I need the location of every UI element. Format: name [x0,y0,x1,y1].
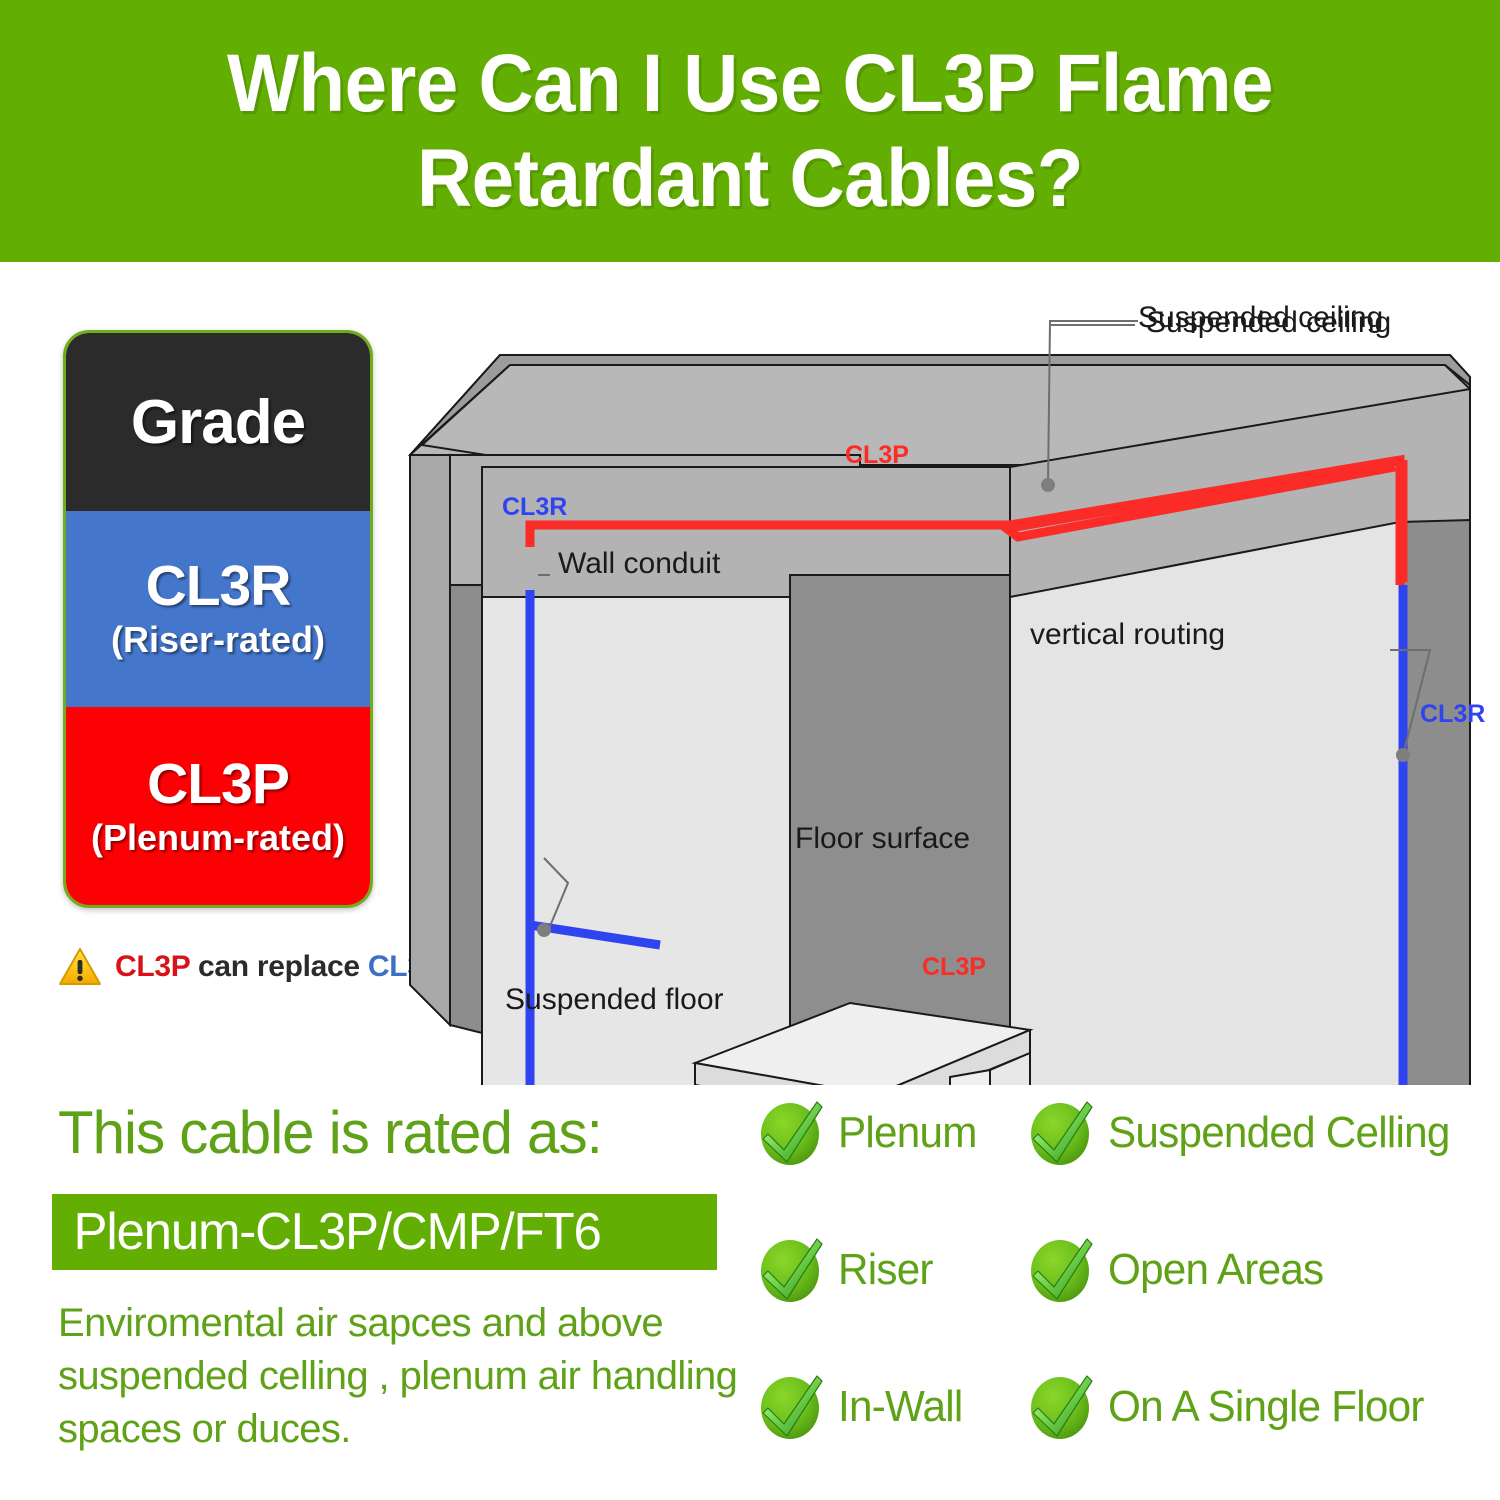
grade-legend-card: Grade CL3R (Riser-rated) CL3P (Plenum-ra… [63,330,373,908]
grade-legend-row-cl3p: CL3P (Plenum-rated) [66,707,370,907]
callout-label-wall-conduit: Wall conduit [558,547,720,581]
callout-label-vertical-routing: vertical routing [1030,618,1225,652]
page-header-banner: Where Can I Use CL3P Flame Retardant Cab… [0,0,1500,262]
checklist-label-on-a-single-floor: On A Single Floor [1108,1382,1424,1432]
checklist-label-suspended-celling: Suspended Celling [1108,1108,1450,1158]
rated-as-heading: This cable is rated as: [58,1098,602,1167]
checklist-row-3: In-Wall On A Single Floor [760,1372,1437,1442]
green-check-icon [760,1235,824,1305]
callout-label-floor-surface: Floor surface [795,822,970,856]
callout-label-suspended-ceiling: Suspended ceiling [1138,301,1383,335]
checklist-item-open-areas: Open Areas [1030,1235,1332,1305]
rated-chip-label: Plenum-CL3P/CMP/FT6 [52,1202,601,1262]
green-check-icon [1030,1098,1094,1168]
green-check-icon [760,1372,824,1442]
checklist-item-suspended-celling: Suspended Celling [1030,1098,1464,1168]
grade-cl3r-code: CL3R [146,558,291,615]
checklist-item-plenum: Plenum [760,1098,1030,1168]
room-diagram-svg: .ln{stroke:#1A1A1A;stroke-width:2;fill:n… [390,285,1500,1085]
green-check-icon [1030,1235,1094,1305]
checklist-item-in-wall: In-Wall [760,1372,1030,1442]
warning-triangle-icon [58,947,102,987]
checklist-item-riser: Riser [760,1235,1030,1305]
checklist-row-1: Plenum Suspended Celling [760,1098,1464,1168]
cable-label-cl3r-left: CL3R [502,493,567,521]
checklist-row-2: Riser Open Areas [760,1235,1332,1305]
note-middle: can replace [190,950,368,983]
cable-label-cl3p-floor: CL3P [922,953,986,981]
checklist-item-on-a-single-floor: On A Single Floor [1030,1372,1437,1442]
rated-chip: Plenum-CL3P/CMP/FT6 [52,1194,717,1270]
green-check-icon [760,1098,824,1168]
rated-description: Enviromental air sapces and above suspen… [58,1297,738,1455]
grade-legend-row-cl3r: CL3R (Riser-rated) [66,511,370,707]
checklist-label-riser: Riser [838,1245,933,1295]
checklist-label-open-areas: Open Areas [1108,1245,1323,1295]
green-check-icon [1030,1372,1094,1442]
cable-label-cl3r-right: CL3R [1420,700,1485,728]
grade-legend-header: Grade [66,333,370,511]
grade-cl3p-subtitle: (Plenum-rated) [91,817,345,858]
rating-checklist: Plenum Suspended Celling Riser Open Area… [760,1098,1490,1468]
note-cl3p: CL3P [115,950,190,983]
cable-label-cl3p-ceiling: CL3P [845,441,909,469]
replacement-note: CL3P can replace CL3R [58,947,445,987]
grade-cl3p-code: CL3P [147,756,289,813]
grade-cl3r-subtitle: (Riser-rated) [111,619,325,660]
grade-legend-header-label: Grade [131,387,305,458]
callout-label-suspended-floor: Suspended floor [505,983,724,1017]
page-title: Where Can I Use CL3P Flame Retardant Cab… [127,36,1373,226]
checklist-label-plenum: Plenum [838,1108,977,1158]
checklist-label-in-wall: In-Wall [838,1382,962,1432]
isometric-room-cable-routing-diagram: .ln{stroke:#1A1A1A;stroke-width:2;fill:n… [390,285,1500,1085]
